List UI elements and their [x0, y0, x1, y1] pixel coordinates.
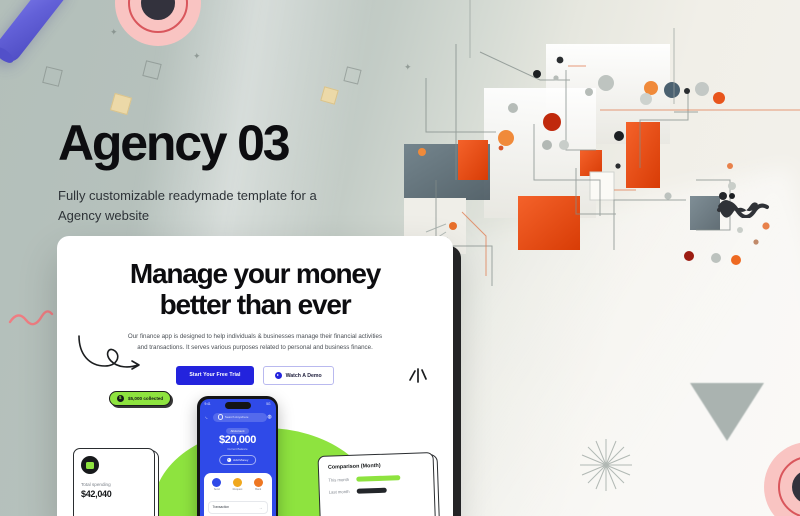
sparkle-icon	[406, 362, 430, 386]
phone-quick-actions: Send Request Bank	[204, 478, 272, 492]
arrow-right-icon: →	[259, 505, 263, 510]
total-spending-card: Total spending $42,040	[73, 448, 155, 516]
quick-action-label: Request	[233, 488, 243, 491]
watch-demo-label: Watch A Demo	[286, 373, 322, 379]
search-icon	[218, 414, 223, 419]
watch-demo-button[interactable]: Watch A Demo	[263, 366, 334, 385]
quick-action-label: Send	[214, 488, 220, 491]
collected-badge: $5,000 collected	[109, 391, 171, 406]
balance-amount: $20,000	[200, 434, 276, 446]
send-icon	[212, 478, 221, 487]
page-title: Agency 03	[58, 118, 418, 168]
phone-notch	[225, 402, 251, 409]
play-icon	[275, 372, 282, 379]
comparison-card: Comparison (Month) This month Last month	[317, 452, 436, 516]
template-preview-card[interactable]: Manage your money better than ever Our f…	[57, 236, 453, 516]
start-free-trial-button[interactable]: Start Your Free Trial	[176, 366, 253, 385]
phone-search-placeholder: Search Anywhere	[225, 415, 249, 419]
transaction-label: Transaction	[213, 505, 230, 509]
comparison-row-label: Last month	[329, 489, 353, 495]
comparison-row: Last month	[329, 486, 425, 494]
comparison-bar-this-month	[356, 475, 400, 482]
comparison-row-label: This month	[328, 477, 352, 483]
promo-text-block: Agency 03 Fully customizable readymade t…	[58, 118, 418, 225]
comparison-row: This month	[328, 474, 424, 482]
status-network: 5G	[266, 402, 270, 406]
gray-triangle-shape	[690, 383, 764, 441]
bank-icon	[254, 478, 263, 487]
transaction-row[interactable]: Transaction →	[208, 501, 268, 514]
bell-icon[interactable]: ◍	[267, 414, 273, 420]
quick-action-send[interactable]: Send	[212, 478, 221, 492]
wifi-icon[interactable]: ◟	[204, 414, 210, 420]
add-money-button[interactable]: + Add Money	[219, 455, 257, 465]
abstract-geometric-composition	[400, 0, 800, 300]
status-time: 9:41	[205, 402, 211, 406]
preview-paragraph-line2: and transactions. It serves various purp…	[109, 343, 401, 354]
curly-arrow-icon	[75, 332, 145, 376]
phone-sheet: Send Request Bank T	[204, 473, 272, 516]
phone-mockup[interactable]: 9:41 5G ◟ Search Anywhere ◍ All Account …	[197, 396, 278, 516]
quick-action-bank[interactable]: Bank	[254, 478, 263, 492]
preview-paragraph-line1: Our finance app is designed to help indi…	[109, 332, 401, 343]
comparison-title: Comparison (Month)	[328, 461, 424, 470]
dark-squiggle-shape	[716, 196, 770, 218]
plus-mark: ✦	[404, 63, 412, 72]
add-money-label: Add Money	[233, 458, 248, 462]
plus-icon: +	[227, 458, 231, 462]
collected-badge-label: $5,000 collected	[128, 396, 163, 401]
phone-search-input[interactable]: Search Anywhere	[213, 413, 267, 422]
red-squiggle-shape	[8, 310, 54, 328]
preview-headline-line1: Manage your money	[75, 258, 435, 289]
plus-mark: ✦	[193, 52, 201, 61]
plus-mark: ✦	[110, 28, 118, 37]
total-spending-value: $42,040	[81, 489, 147, 499]
comparison-bar-last-month	[357, 488, 387, 494]
starburst-shape	[578, 437, 634, 493]
screenshot-stage: ✦ ✦ ✦ Agency 03 Fully customizable ready…	[0, 0, 800, 516]
page-subtitle: Fully customizable readymade template fo…	[58, 186, 328, 225]
quick-action-request[interactable]: Request	[233, 478, 243, 492]
balance-label: Current Balance	[200, 447, 276, 451]
dollar-coin-icon	[117, 395, 124, 402]
total-spending-label: Total spending	[81, 482, 147, 487]
request-icon	[233, 478, 242, 487]
wallet-icon	[81, 456, 99, 474]
quick-action-label: Bank	[255, 488, 261, 491]
preview-headline-line2: better than ever	[75, 289, 435, 320]
